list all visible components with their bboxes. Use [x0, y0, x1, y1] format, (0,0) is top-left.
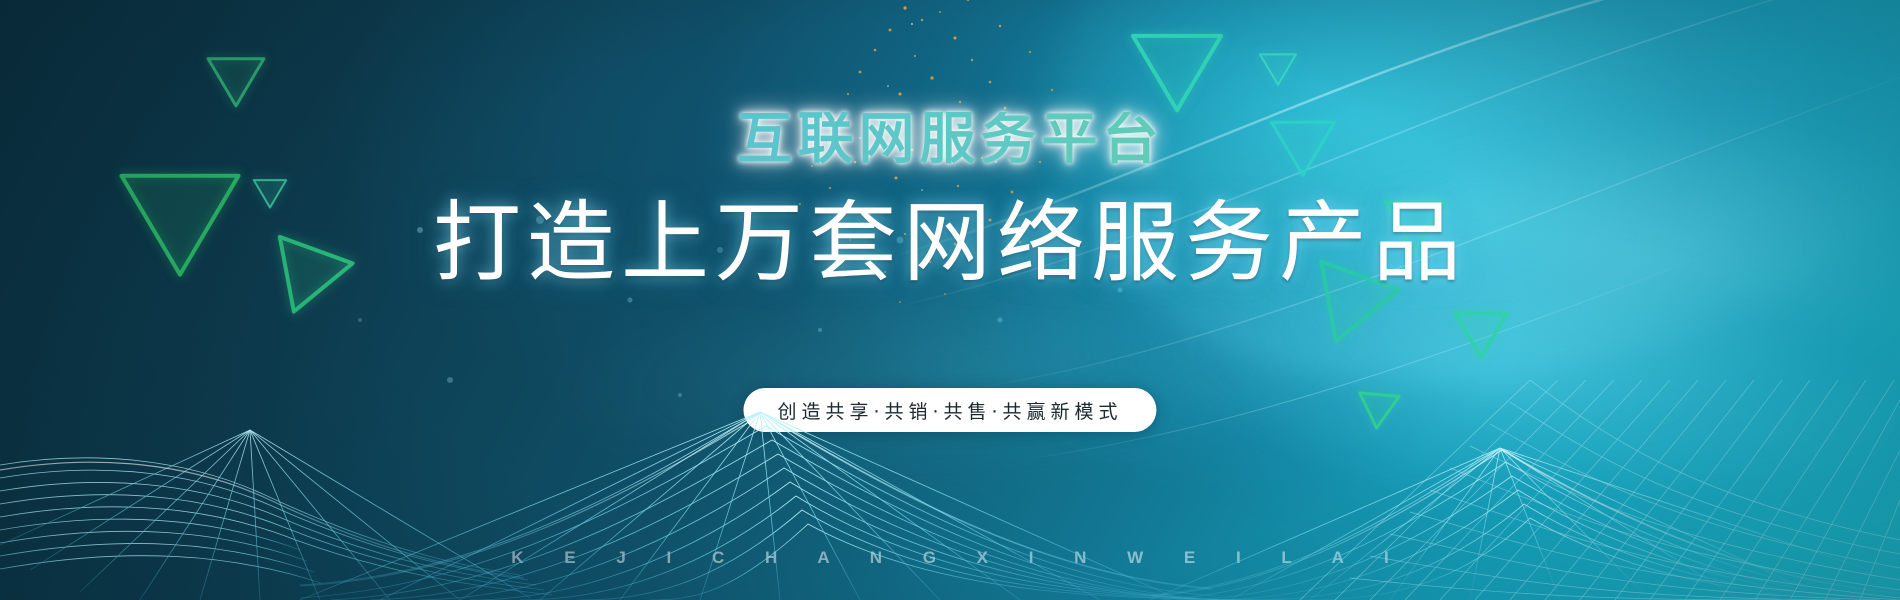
banner-content: 互联网服务平台 互联网服务平台 打造上万套网络服务产品 创造共享·共销·共售·共…: [0, 0, 1900, 600]
tagline-text: 创造共享·共销·共售·共赢新模式: [777, 397, 1122, 424]
primary-title: 互联网服务平台: [0, 112, 1900, 168]
pinyin-footer: K E J I C H A N G X I N W E I L A I: [0, 548, 1900, 568]
hero-banner: 互联网服务平台 互联网服务平台 打造上万套网络服务产品 创造共享·共销·共售·共…: [0, 0, 1900, 600]
secondary-title: 打造上万套网络服务产品: [0, 195, 1900, 292]
tagline-pill: 创造共享·共销·共售·共赢新模式: [743, 388, 1156, 432]
